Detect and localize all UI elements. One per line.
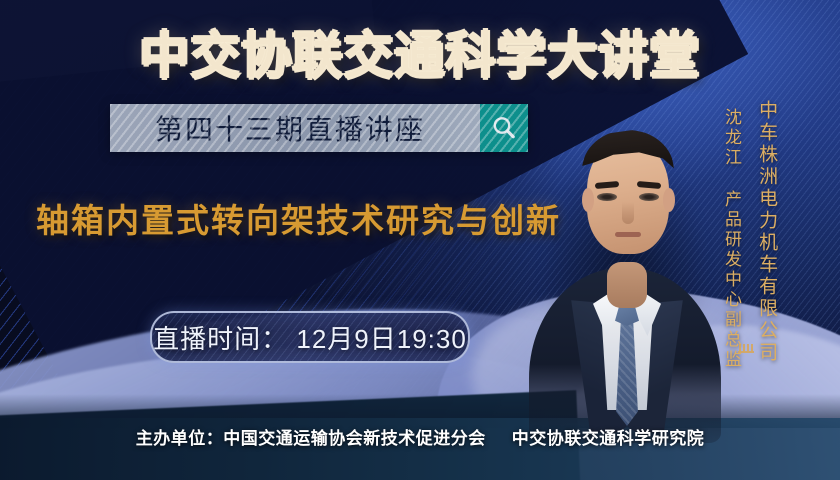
poster-headline: 中交协联交通科学大讲堂 [0, 16, 840, 88]
speaker-company: 中车株洲电力机车有限公司 [756, 100, 776, 364]
speaker-portrait [527, 96, 723, 426]
live-lecture-poster: 中交协联交通科学大讲堂 第四十三期直播讲座 轴箱内置式转向架技术研究与创新 直播… [0, 0, 840, 480]
organiser-prefix: 主办单位： [136, 429, 224, 448]
portrait-eye-left [597, 193, 617, 201]
portrait-ear-right [663, 188, 675, 212]
broadcast-time-text: 直播时间： 12月9日19:30 [153, 319, 467, 356]
speaker-name-role: 沈龙江 产品研发中心副总监 [722, 108, 740, 370]
portrait-eye-right [639, 193, 659, 201]
organiser-line: 主办单位：中国交通运输协会新技术促进分会中交协联交通科学研究院 [0, 424, 840, 449]
search-icon [480, 104, 528, 152]
organiser-name-2: 中交协联交通科学研究院 [512, 429, 705, 448]
organiser-name-1: 中国交通运输协会新技术促进分会 [223, 429, 486, 448]
portrait-nose [622, 202, 634, 224]
portrait-neck [607, 262, 647, 308]
portrait-ear-left [582, 188, 594, 212]
gold-ornament-icon [738, 344, 754, 353]
portrait-mouth [615, 232, 641, 237]
episode-banner: 第四十三期直播讲座 [110, 104, 528, 152]
episode-label: 第四十三期直播讲座 [110, 104, 480, 152]
topic-title: 轴箱内置式转向架技术研究与创新 [36, 194, 561, 242]
broadcast-time-pill: 直播时间： 12月9日19:30 [150, 311, 470, 363]
